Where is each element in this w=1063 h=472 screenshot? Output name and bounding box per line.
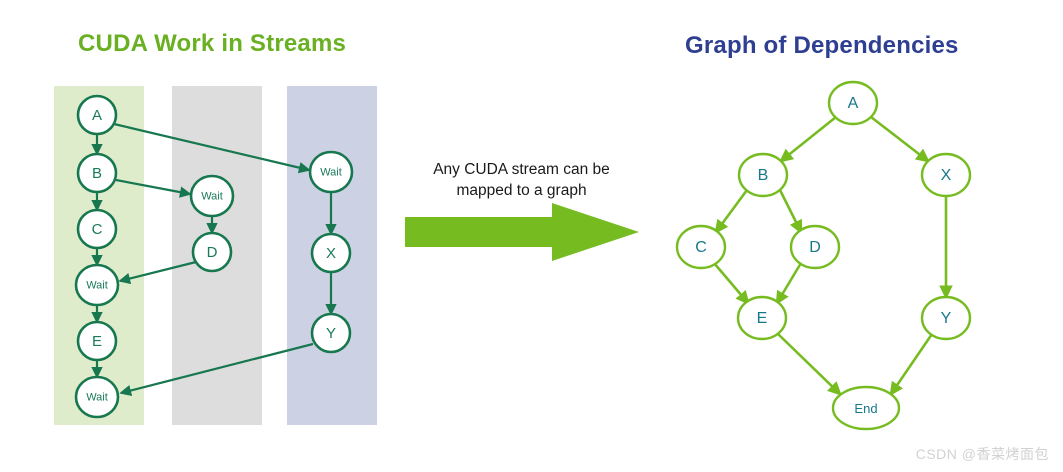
caption-line-2: mapped to a graph [404,181,639,202]
transition-caption: Any CUDA stream can be mapped to a graph [404,160,639,202]
csdn-watermark: CSDN @香菜烤面包 [916,444,1049,464]
slide-root: ABCWaitEWaitWaitDWaitXY ABXCDEYEnd CUDA … [0,0,1063,472]
page-title-right: Graph of Dependencies [685,32,959,60]
big-right-arrow [405,203,639,261]
caption-line-1: Any CUDA stream can be [404,160,639,181]
page-title-left: CUDA Work in Streams [78,30,346,58]
transition-arrow-layer [0,0,1063,472]
